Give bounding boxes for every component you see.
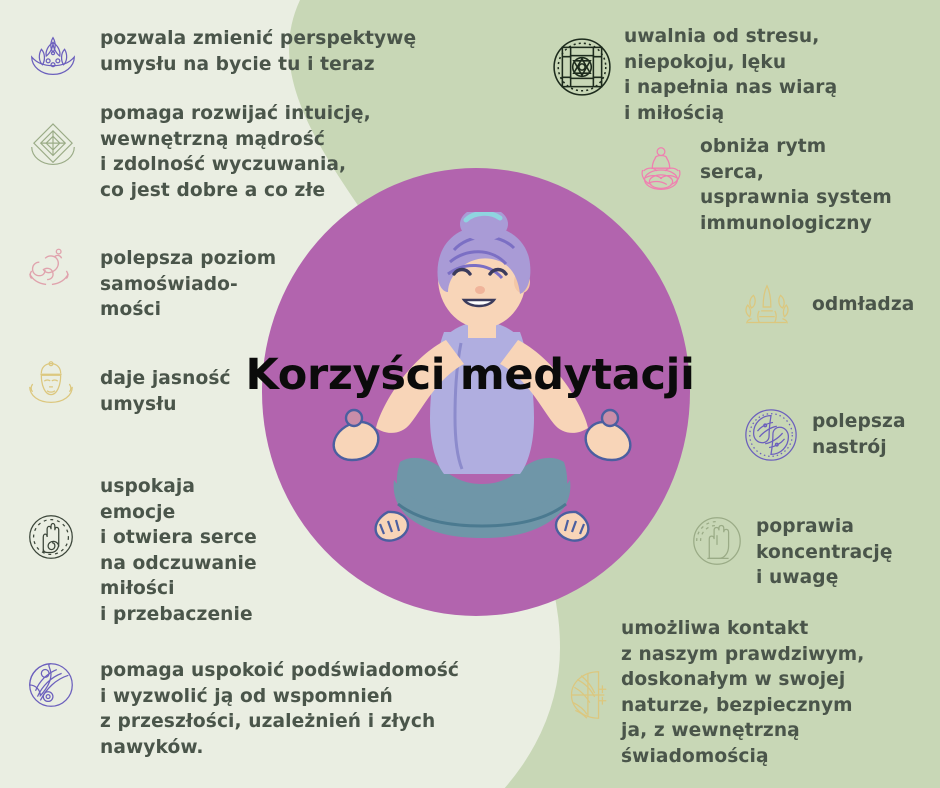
benefit-subconscious-text: pomaga uspokoić podświadomość i wyzwolić… [100,658,560,760]
benefit-true-nature: umożliwa kontakt z naszym prawdziwym, do… [621,616,940,769]
benefit-heart-rhythm: obniża rytm serca, usprawnia system immu… [700,134,940,236]
benefit-intuition-text: pomaga rozwijać intuicję, wewnętrzną mąd… [100,101,540,203]
benefit-true-nature-text: umożliwa kontakt z naszym prawdziwym, do… [621,616,940,769]
benefit-mood-text: polepsza nastrój [812,409,940,460]
hand-with-spiral-icon [22,508,80,566]
benefit-intuition: pomaga rozwijać intuicję, wewnętrzną mąd… [100,101,540,203]
benefit-perspective-text: pozwala zmienić perspektywę umysłu na by… [100,26,540,77]
benefit-concentration-text: poprawia koncentrację i uwagę [756,514,940,591]
om-symbol-icon [20,239,78,297]
page-title: Korzyści medytacji [0,350,940,400]
benefit-rejuvenation: odmładza [812,292,940,318]
benefit-subconscious: pomaga uspokoić podświadomość i wyzwolić… [100,658,560,760]
benefit-concentration: poprawia koncentrację i uwagę [756,514,940,591]
bamboo-window-icon [556,666,614,724]
benefit-stress-relief-text: uwalnia od stresu, niepokoju, lęku i nap… [624,24,940,126]
namaste-leaves-icon [738,278,796,336]
benefit-mood: polepsza nastrój [812,409,940,460]
endless-knot-icon [24,118,82,176]
lotus-meditator-icon [632,141,690,199]
sri-yantra-mandala-icon [551,36,613,98]
benefit-perspective: pozwala zmienić perspektywę umysłu na by… [100,26,540,77]
yin-yang-icon [22,656,80,714]
benefit-heart-rhythm-text: obniża rytm serca, usprawnia system immu… [700,134,940,236]
lotus-in-hands-icon [24,28,82,86]
benefit-stress-relief: uwalnia od stresu, niepokoju, lęku i nap… [624,24,940,126]
koi-circle-icon [742,406,800,464]
open-hand-icon [688,512,746,570]
benefit-rejuvenation-text: odmładza [812,292,940,318]
infographic-poster: pozwala zmienić perspektywę umysłu na by… [0,0,940,788]
